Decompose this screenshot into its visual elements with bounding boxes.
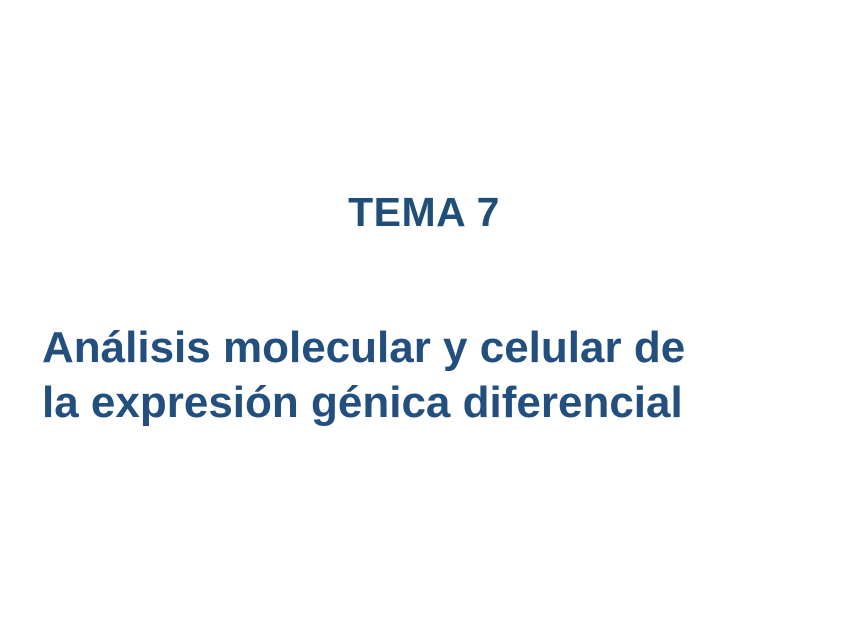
presentation-slide: TEMA 7 Análisis molecular y celular de l… [0, 0, 848, 636]
slide-title-line-1: Análisis molecular y celular de [42, 320, 810, 375]
slide-title-line-2: la expresión génica diferencial [42, 375, 810, 430]
slide-title: Análisis molecular y celular de la expre… [42, 320, 810, 430]
slide-heading: TEMA 7 [0, 186, 848, 238]
